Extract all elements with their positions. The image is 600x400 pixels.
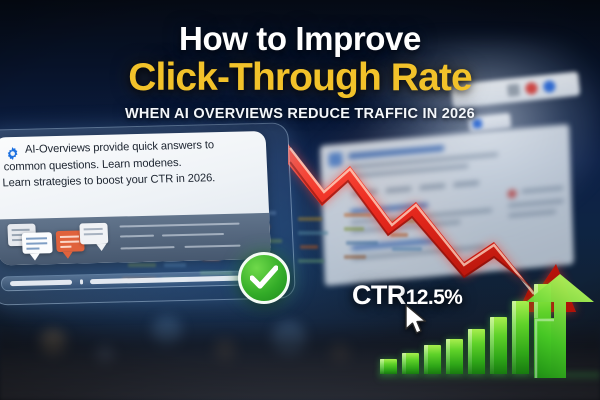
headline-block: How to Improve Click-Through Rate WHEN A… bbox=[0, 0, 600, 122]
chat-bubble-white-icon bbox=[22, 232, 53, 254]
placeholder-line bbox=[120, 235, 154, 238]
ai-overview-panel: AI-Overviews provide quick answers to co… bbox=[0, 131, 271, 266]
bar-1 bbox=[380, 359, 397, 374]
ctr-metric: CTR12.5% bbox=[352, 280, 462, 311]
search-bar-segment bbox=[10, 280, 72, 287]
bar-3 bbox=[424, 345, 441, 374]
chat-bubble-light-icon bbox=[79, 223, 108, 245]
infographic-canvas: AI-Overviews provide quick answers to co… bbox=[0, 0, 600, 400]
checkmark-icon bbox=[250, 265, 278, 291]
placeholder-line bbox=[184, 245, 240, 248]
bar-6 bbox=[490, 317, 507, 374]
headline-line-1: How to Improve bbox=[0, 22, 600, 56]
placeholder-line bbox=[120, 246, 174, 249]
bar-2 bbox=[402, 353, 419, 374]
headline-line-2: Click-Through Rate bbox=[0, 58, 600, 98]
placeholder-line bbox=[120, 223, 240, 228]
ai-overview-text: AI-Overviews provide quick answers to co… bbox=[25, 136, 261, 191]
mouse-pointer-icon[interactable] bbox=[404, 304, 430, 336]
green-up-arrow-icon bbox=[524, 274, 596, 378]
search-bar-segment bbox=[90, 275, 256, 284]
bar-5 bbox=[468, 329, 485, 374]
ctr-label: CTR bbox=[352, 280, 406, 310]
bar-4 bbox=[446, 339, 463, 374]
placeholder-line bbox=[162, 233, 224, 237]
search-bar-segment bbox=[80, 279, 83, 284]
ai-card-footer-strip bbox=[0, 213, 271, 266]
headline-subtitle: WHEN AI OVERVIEWS REDUCE TRAFFIC IN 2026 bbox=[0, 106, 600, 122]
green-check-badge bbox=[238, 252, 290, 304]
